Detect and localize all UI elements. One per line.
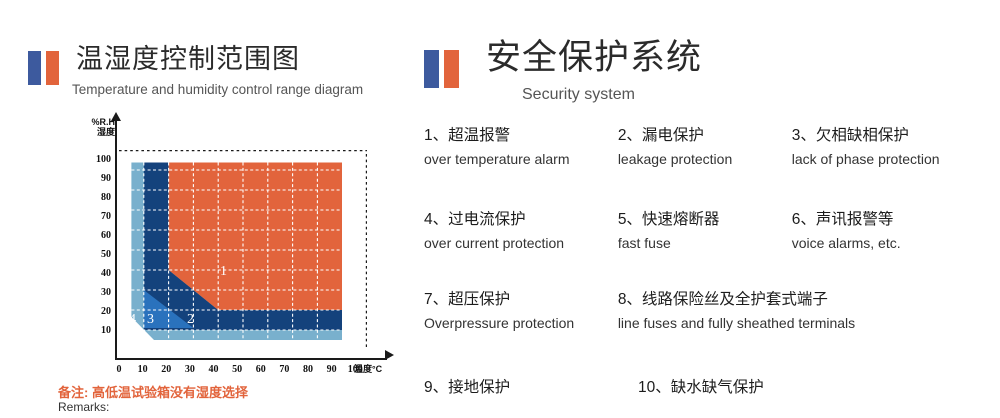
- security-item-5: 5、快速熔断器 fast fuse: [618, 210, 792, 290]
- security-item-10: 10、缺水缺气保护: [638, 378, 830, 418]
- security-item-2-cn: 2、漏电保护: [618, 126, 792, 146]
- y-tick-10: 10: [71, 325, 111, 336]
- y-axis-title: %R.H 湿度: [69, 118, 115, 137]
- security-item-1-cn: 1、超温报警: [424, 126, 618, 146]
- security-item-4-en: over current protection: [424, 233, 618, 253]
- security-item-1-en: over temperature alarm: [424, 149, 618, 169]
- security-item-6: 6、声讯报警等 voice alarms, etc.: [792, 210, 1000, 290]
- brand-flag-icon-left: [28, 51, 59, 85]
- security-item-5-cn: 5、快速熔断器: [618, 210, 792, 230]
- y-tick-20: 20: [71, 306, 111, 317]
- x-tick-50: 50: [224, 364, 250, 375]
- security-item-4-cn: 4、过电流保护: [424, 210, 618, 230]
- security-row: 1、超温报警 over temperature alarm 2、漏电保护 lea…: [424, 126, 1000, 210]
- zone-polygons: [119, 150, 367, 350]
- security-item-3-en: lack of phase protection: [792, 149, 1000, 169]
- security-item-6-en: voice alarms, etc.: [792, 233, 1000, 253]
- remark-cn: 备注: 高低温试验箱没有湿度选择: [58, 382, 248, 401]
- y-tick-40: 40: [71, 268, 111, 279]
- security-item-3: 3、欠相缺相保护 lack of phase protection: [792, 126, 1000, 210]
- security-item-8-en: line fuses and fully sheathed terminals: [618, 313, 1000, 333]
- security-item-7-en: Overpressure protection: [424, 313, 618, 333]
- flag-bar-orange: [444, 50, 459, 88]
- x-tick-0: 0: [106, 364, 132, 375]
- flag-bar-orange: [46, 51, 59, 85]
- security-row: 9、接地保护 10、缺水缺气保护: [424, 378, 1000, 418]
- zone-label-2: 2: [187, 312, 194, 328]
- zone-label-1: 1: [220, 264, 227, 280]
- y-tick-50: 50: [71, 249, 111, 260]
- brand-flag-icon-right: [424, 50, 459, 88]
- security-item-7-cn: 7、超压保护: [424, 290, 618, 310]
- security-item-8-cn: 8、线路保险丝及全护套式端子: [618, 290, 1000, 310]
- y-tick-60: 60: [71, 230, 111, 241]
- y-axis-line: [115, 120, 117, 360]
- x-tick-60: 60: [248, 364, 274, 375]
- zone-1-polygon: [169, 163, 342, 311]
- security-title-en: Security system: [522, 87, 635, 103]
- x-tick-90: 90: [319, 364, 345, 375]
- x-axis-line: [115, 358, 387, 360]
- x-tick-80: 80: [295, 364, 321, 375]
- y-tick-80: 80: [71, 192, 111, 203]
- chart-title-en: Temperature and humidity control range d…: [72, 83, 363, 97]
- chart-title-cn: 温湿度控制范围图: [76, 46, 300, 73]
- x-tick-10: 10: [130, 364, 156, 375]
- x-tick-30: 30: [177, 364, 203, 375]
- security-item-9-cn: 9、接地保护: [424, 378, 638, 398]
- humidity-temperature-chart: %R.H 湿度 温度°C 102030405060708090100 01020…: [70, 112, 410, 374]
- x-axis-arrow-icon: [385, 350, 394, 360]
- page-root: 温湿度控制范围图 Temperature and humidity contro…: [0, 0, 1000, 412]
- y-tick-90: 90: [71, 173, 111, 184]
- security-item-3-cn: 3、欠相缺相保护: [792, 126, 1000, 146]
- x-tick-40: 40: [200, 364, 226, 375]
- x-tick-100: 100: [342, 364, 368, 375]
- y-tick-70: 70: [71, 211, 111, 222]
- y-tick-30: 30: [71, 287, 111, 298]
- zone-3-vertical-strip: [144, 163, 169, 311]
- security-item-6-cn: 6、声讯报警等: [792, 210, 1000, 230]
- security-item-10-cn: 10、缺水缺气保护: [638, 378, 830, 398]
- security-item-7: 7、超压保护 Overpressure protection: [424, 290, 618, 378]
- security-item-2-en: leakage protection: [618, 149, 792, 169]
- zone-label-3: 3: [147, 312, 154, 328]
- x-tick-70: 70: [271, 364, 297, 375]
- zone-label-4: 4: [129, 312, 136, 328]
- flag-bar-blue: [424, 50, 439, 88]
- security-row: 7、超压保护 Overpressure protection 8、线路保险丝及全…: [424, 290, 1000, 378]
- security-feature-list: 1、超温报警 over temperature alarm 2、漏电保护 lea…: [424, 126, 1000, 418]
- security-item-2: 2、漏电保护 leakage protection: [618, 126, 792, 210]
- security-item-8: 8、线路保险丝及全护套式端子 line fuses and fully shea…: [618, 290, 1000, 378]
- x-tick-20: 20: [153, 364, 179, 375]
- security-item-4: 4、过电流保护 over current protection: [424, 210, 618, 290]
- security-item-9: 9、接地保护: [424, 378, 638, 418]
- security-item-5-en: fast fuse: [618, 233, 792, 253]
- plot-area: 1 2 3 4: [119, 150, 367, 350]
- security-item-1: 1、超温报警 over temperature alarm: [424, 126, 618, 210]
- y-tick-100: 100: [71, 154, 111, 165]
- security-title-cn: 安全保护系统: [486, 40, 702, 75]
- flag-bar-blue: [28, 51, 41, 85]
- security-row: 4、过电流保护 over current protection 5、快速熔断器 …: [424, 210, 1000, 290]
- y-axis-title-cn: 湿度: [69, 128, 115, 138]
